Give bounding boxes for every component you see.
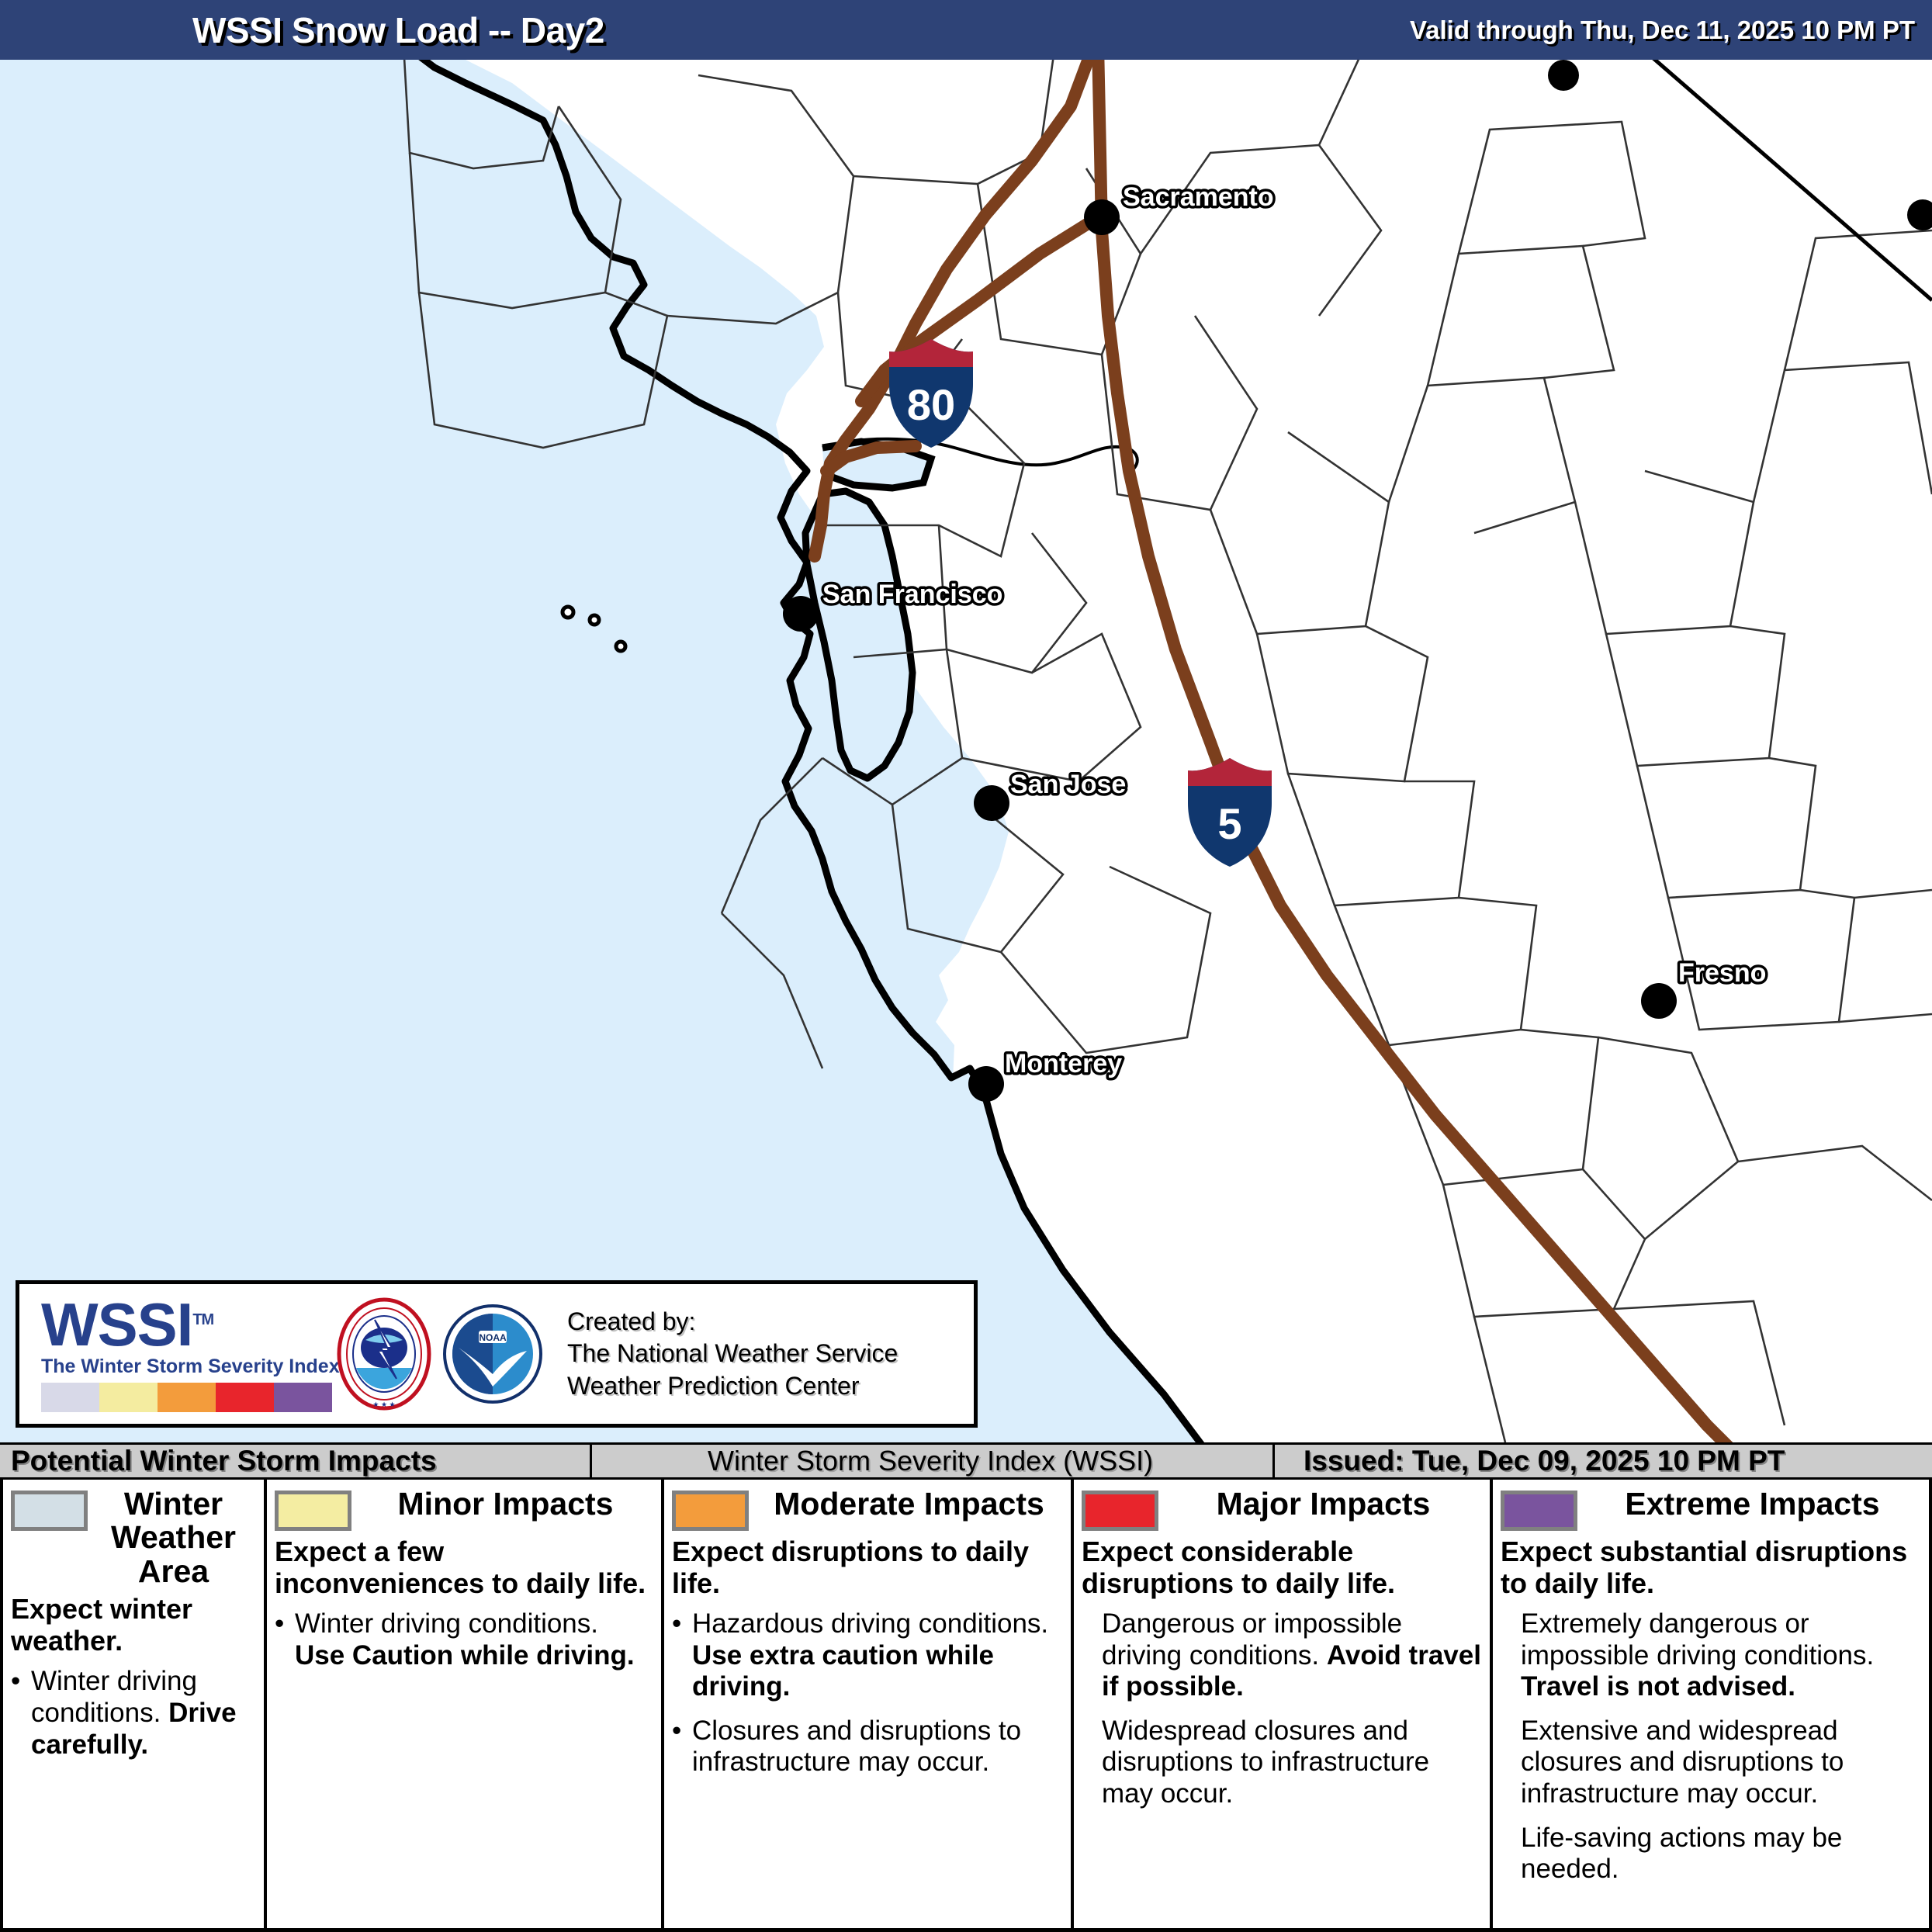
svg-text:5: 5 — [1217, 799, 1241, 848]
bullet-text: Closures and disruptions to infrastructu… — [692, 1716, 1065, 1778]
legend-bullet: •Hazardous driving conditions. Use extra… — [672, 1608, 1065, 1703]
bullet-text: Life-saving actions may be needed. — [1521, 1823, 1923, 1885]
bullet-text: Hazardous driving conditions. Use extra … — [692, 1608, 1065, 1703]
created-by-line-1: Created by: — [567, 1306, 898, 1338]
city-label-monterey: Monterey — [1005, 1049, 1122, 1079]
legend-title-minor-impacts: Minor Impacts — [351, 1487, 655, 1521]
created-by-text: Created by: The National Weather Service… — [567, 1306, 898, 1403]
legend-bullet: •Winter driving conditions. Drive carefu… — [11, 1666, 258, 1761]
legend-title-winter-weather-area: Winter Weather Area — [88, 1487, 258, 1588]
legend-bullets: •Extremely dangerous or impossible drivi… — [1501, 1608, 1923, 1885]
legend-bullet: •Life-saving actions may be needed. — [1501, 1823, 1923, 1885]
bullet-marker-icon: • — [1501, 1608, 1521, 1703]
legend-lead-winter-weather-area: Expect winter weather. — [11, 1593, 258, 1657]
impact-header-bar: Potential Winter Storm Impacts Winter St… — [0, 1442, 1932, 1480]
legend-swatch-extreme-impacts — [1501, 1491, 1577, 1531]
city-dot-monterey — [968, 1066, 1004, 1102]
city-dot-san-francisco — [783, 596, 819, 632]
island — [616, 642, 625, 651]
svg-text:★ ★ ★: ★ ★ ★ — [372, 1401, 395, 1408]
page-title: WSSI Snow Load -- Day2 — [192, 9, 604, 51]
legend-column-minor-impacts: Minor ImpactsExpect a few inconveniences… — [264, 1480, 661, 1928]
legend-bullets: •Winter driving conditions. Drive carefu… — [11, 1666, 258, 1761]
wssi-color-strip — [41, 1383, 332, 1412]
city-label-san-jose: San Jose — [1010, 770, 1126, 799]
legend-column-major-impacts: Major ImpactsExpect considerable disrupt… — [1071, 1480, 1490, 1928]
city-dot-san-jose — [974, 785, 1009, 821]
bullet-marker-icon: • — [1501, 1823, 1521, 1885]
map-canvas[interactable]: 80 5 Sacramento San Francisco San Jose F… — [0, 60, 1932, 1442]
bullet-text: Winter driving conditions. Use Caution w… — [295, 1608, 655, 1671]
legend-bullet: •Widespread closures and disruptions to … — [1082, 1716, 1484, 1810]
bullet-marker-icon: • — [1082, 1608, 1102, 1703]
map-graphics: 80 5 Sacramento San Francisco San Jose F… — [0, 60, 1932, 1442]
legend-lead-moderate-impacts: Expect disruptions to daily life. — [672, 1536, 1065, 1599]
wssi-tagline: The Winter Storm Severity Index — [41, 1356, 330, 1378]
bullet-marker-icon: • — [672, 1716, 692, 1778]
legend-bullets: •Dangerous or impossible driving conditi… — [1082, 1608, 1484, 1810]
city-dot-fresno — [1641, 983, 1677, 1019]
legend-header: Winter Weather Area — [11, 1487, 258, 1588]
city-dot-sacramento — [1084, 199, 1120, 235]
trademark-symbol: TM — [192, 1311, 213, 1328]
city-label-fresno: Fresno — [1678, 958, 1766, 988]
wssi-wordmark-group: WSSITM The Winter Storm Severity Index — [19, 1296, 330, 1411]
city-label-sacramento: Sacramento — [1123, 182, 1274, 212]
wssi-fullname-label: Winter Storm Severity Index (WSSI) — [708, 1445, 1153, 1477]
potential-impacts-label: Potential Winter Storm Impacts — [11, 1445, 437, 1477]
created-by-line-2: The National Weather Service — [567, 1338, 898, 1370]
legend-header: Extreme Impacts — [1501, 1487, 1923, 1531]
legend-lead-minor-impacts: Expect a few inconveniences to daily lif… — [275, 1536, 655, 1599]
valid-through-text: Valid through Thu, Dec 11, 2025 10 PM PT — [1410, 16, 1915, 45]
bullet-text: Widespread closures and disruptions to i… — [1102, 1716, 1484, 1810]
legend-bullet: •Extremely dangerous or impossible drivi… — [1501, 1608, 1923, 1703]
legend-column-moderate-impacts: Moderate ImpactsExpect disruptions to da… — [661, 1480, 1071, 1928]
issued-label: Issued: Tue, Dec 09, 2025 10 PM PT — [1304, 1445, 1785, 1477]
svg-text:NOAA: NOAA — [479, 1332, 507, 1343]
bullet-text: Extremely dangerous or impossible drivin… — [1521, 1608, 1923, 1703]
bullet-text: Dangerous or impossible driving conditio… — [1102, 1608, 1484, 1703]
legend-title-moderate-impacts: Moderate Impacts — [749, 1487, 1065, 1521]
legend-title-major-impacts: Major Impacts — [1158, 1487, 1484, 1521]
bullet-marker-icon: • — [275, 1608, 295, 1671]
wssi-logo-box: WSSITM The Winter Storm Severity Index ★… — [16, 1280, 978, 1428]
bullet-marker-icon: • — [1082, 1716, 1102, 1810]
legend-title-extreme-impacts: Extreme Impacts — [1577, 1487, 1923, 1521]
island — [563, 607, 573, 618]
legend-bullets: •Hazardous driving conditions. Use extra… — [672, 1608, 1065, 1778]
bullet-marker-icon: • — [11, 1666, 31, 1761]
legend-bullet: •Dangerous or impossible driving conditi… — [1082, 1608, 1484, 1703]
legend-swatch-winter-weather-area — [11, 1491, 88, 1531]
legend-lead-extreme-impacts: Expect substantial disruptions to daily … — [1501, 1536, 1923, 1599]
legend-header: Minor Impacts — [275, 1487, 655, 1531]
legend-swatch-major-impacts — [1082, 1491, 1158, 1531]
legend-bullets: •Winter driving conditions. Use Caution … — [275, 1608, 655, 1671]
legend-column-extreme-impacts: Extreme ImpactsExpect substantial disrup… — [1490, 1480, 1932, 1928]
page-header: WSSI Snow Load -- Day2 Valid through Thu… — [0, 0, 1932, 60]
bullet-text: Winter driving conditions. Drive careful… — [31, 1666, 258, 1761]
bullet-marker-icon: • — [672, 1608, 692, 1703]
city-dot-unlabeled-north — [1548, 60, 1579, 91]
legend-bullet: •Closures and disruptions to infrastruct… — [672, 1716, 1065, 1778]
wssi-wordmark: WSSITM — [41, 1296, 330, 1353]
bullet-marker-icon: • — [1501, 1716, 1521, 1810]
created-by-line-3: Weather Prediction Center — [567, 1370, 898, 1403]
island — [590, 615, 599, 625]
bullet-text: Extensive and widespread closures and di… — [1521, 1716, 1923, 1810]
legend-lead-major-impacts: Expect considerable disruptions to daily… — [1082, 1536, 1484, 1599]
impact-legend: Winter Weather AreaExpect winter weather… — [0, 1480, 1932, 1932]
legend-column-winter-weather-area: Winter Weather AreaExpect winter weather… — [0, 1480, 264, 1928]
legend-header: Moderate Impacts — [672, 1487, 1065, 1531]
legend-header: Major Impacts — [1082, 1487, 1484, 1531]
legend-swatch-minor-impacts — [275, 1491, 351, 1531]
svg-text:80: 80 — [907, 380, 955, 429]
legend-bullet: •Extensive and widespread closures and d… — [1501, 1716, 1923, 1810]
noaa-seal-icon: NOAA — [438, 1297, 547, 1411]
city-label-san-francisco: San Francisco — [822, 580, 1002, 609]
nws-seal-icon: ★ ★ ★ — [330, 1297, 438, 1411]
legend-swatch-moderate-impacts — [672, 1491, 749, 1531]
legend-bullet: •Winter driving conditions. Use Caution … — [275, 1608, 655, 1671]
